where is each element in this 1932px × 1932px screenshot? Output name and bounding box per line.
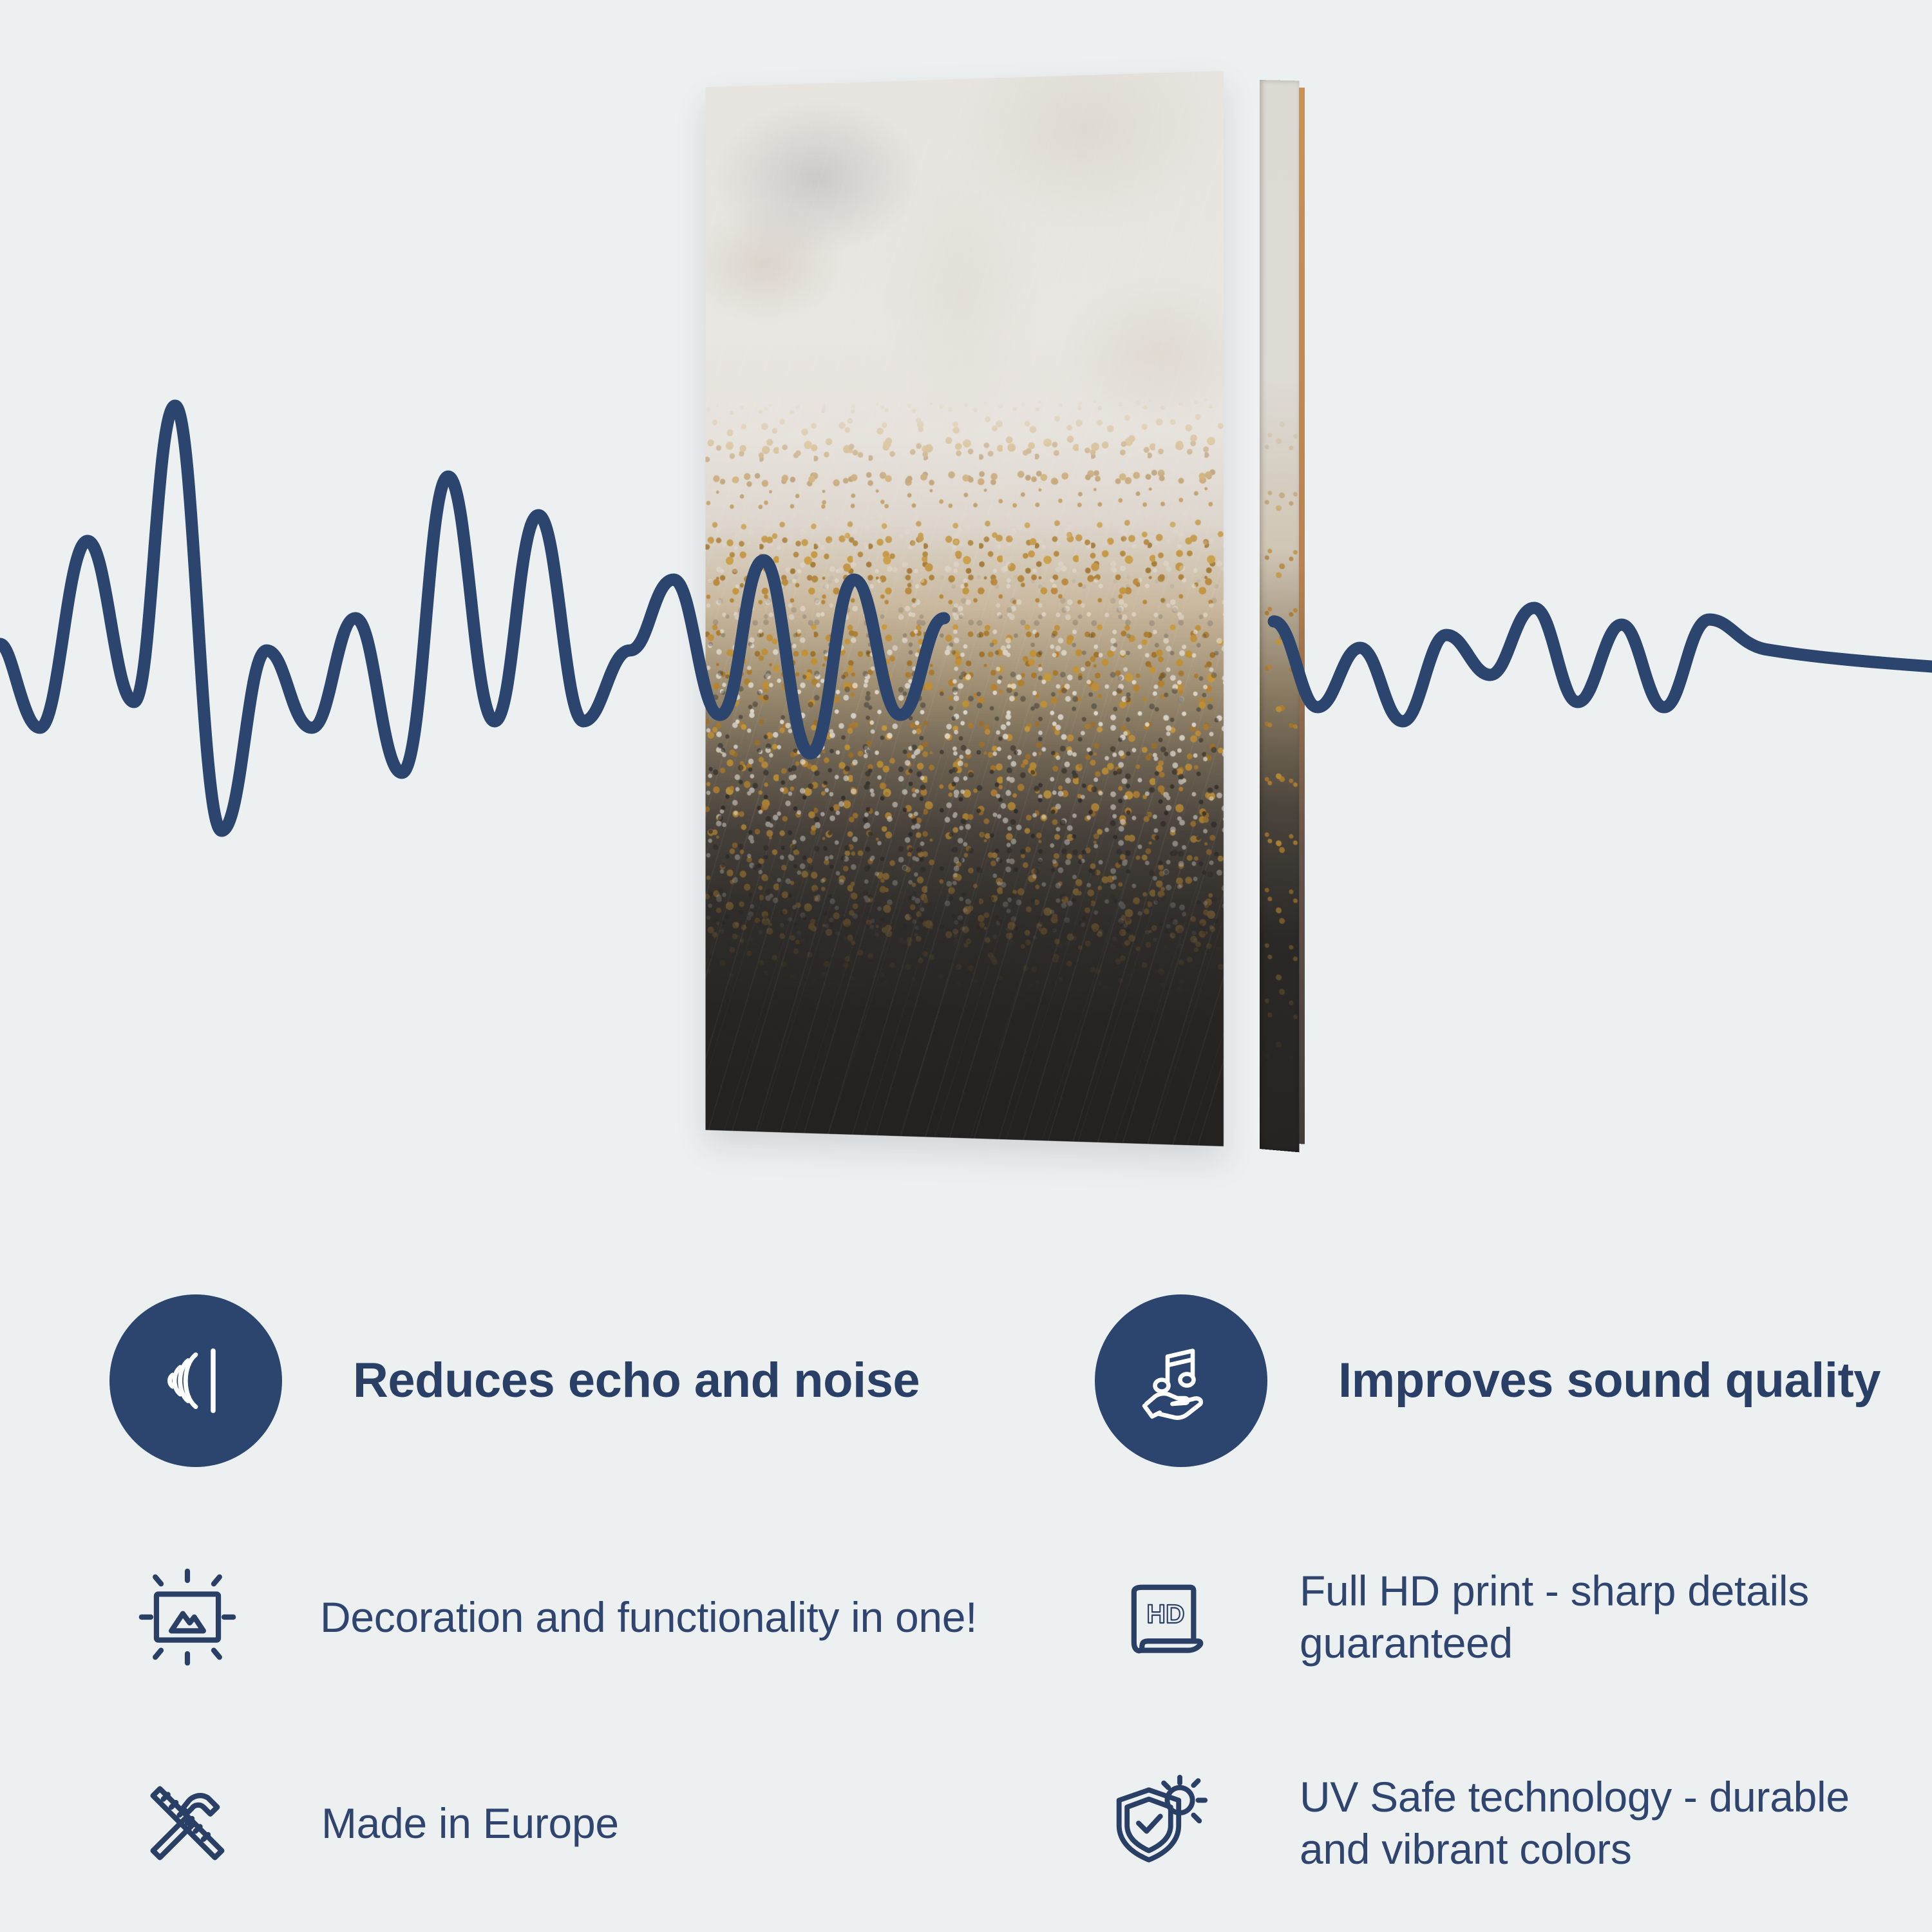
- feature-reduces-echo[interactable]: Reduces echo and noise: [109, 1294, 960, 1467]
- shield-check-sun-icon: [1095, 1748, 1244, 1898]
- canvas-side-edge: [1260, 80, 1299, 1152]
- feature-full-hd-print[interactable]: HD Full HD print - sharp details guarant…: [1095, 1542, 1926, 1692]
- sound-waves-panel-icon: [109, 1294, 282, 1467]
- product-canvas-print[interactable]: [683, 71, 1262, 1230]
- hd-screen-icon: HD: [1095, 1542, 1244, 1692]
- canvas-side-gold-speckle: [1260, 80, 1299, 1152]
- feature-label: Made in Europe: [321, 1797, 619, 1850]
- product-hero: [0, 0, 1932, 1236]
- feature-label: Full HD print - sharp details guaranteed: [1300, 1565, 1926, 1669]
- shining-picture-frame-icon: [113, 1542, 262, 1692]
- canvas-front-face: [706, 71, 1224, 1146]
- hammer-and-ruler-icon: [113, 1748, 262, 1898]
- canvas-weave-grain: [706, 71, 1224, 1146]
- feature-label: Decoration and functionality in one!: [320, 1591, 977, 1643]
- features-list: Reduces echo and noise Improves sound qu…: [0, 1240, 1932, 1932]
- hd-badge-text: HD: [1146, 1599, 1184, 1629]
- feature-decoration-functionality[interactable]: Decoration and functionality in one!: [113, 1542, 989, 1692]
- feature-label: Reduces echo and noise: [353, 1353, 920, 1408]
- feature-label: Improves sound quality: [1338, 1353, 1880, 1408]
- canvas-side-warm-strip: [1299, 88, 1305, 1144]
- feature-label: UV Safe technology - durable and vibrant…: [1300, 1771, 1926, 1875]
- music-note-in-hand-icon: [1095, 1294, 1267, 1467]
- feature-improves-sound[interactable]: Improves sound quality: [1095, 1294, 1919, 1467]
- feature-made-in-europe[interactable]: Made in Europe: [113, 1748, 885, 1898]
- feature-uv-safe[interactable]: UV Safe technology - durable and vibrant…: [1095, 1748, 1926, 1898]
